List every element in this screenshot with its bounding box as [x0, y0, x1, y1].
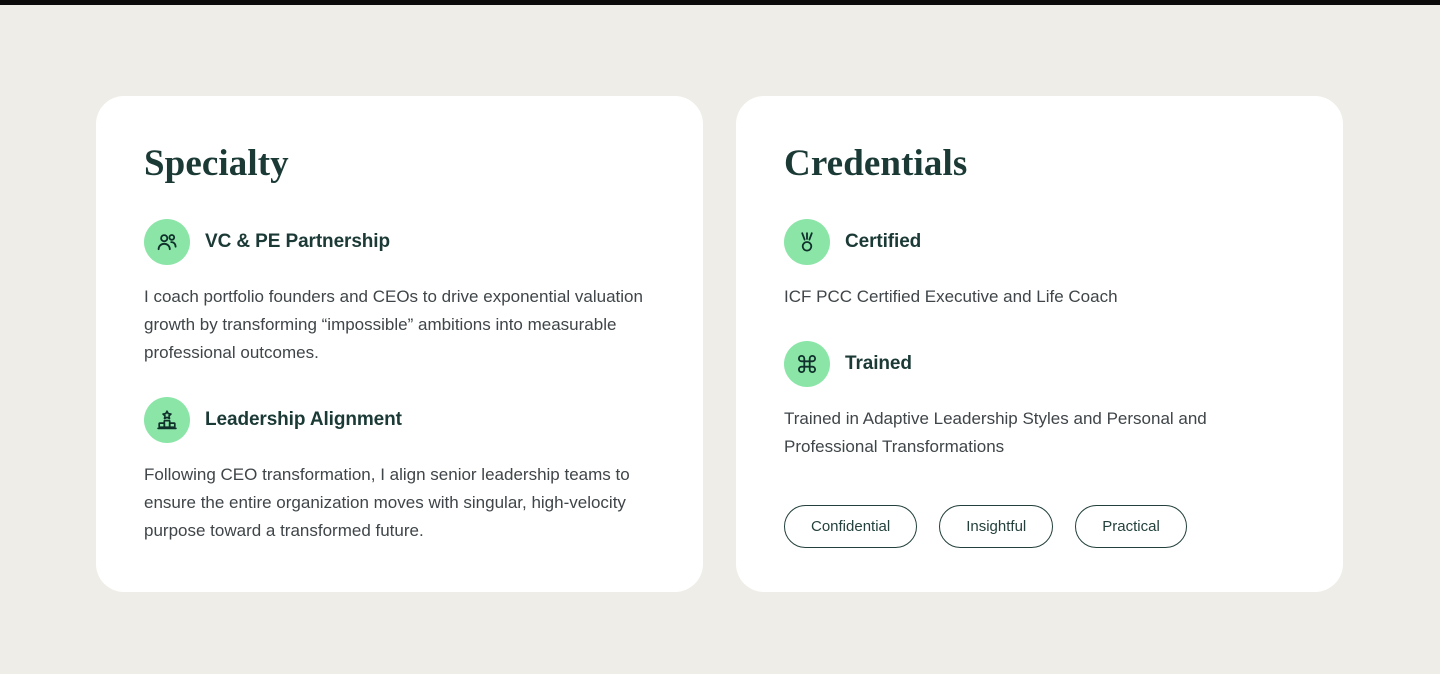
entry-body: ICF PCC Certified Executive and Life Coa…: [784, 283, 1295, 311]
entry-title: Leadership Alignment: [205, 409, 402, 431]
command-knot-icon: [784, 341, 830, 387]
cards-container: Specialty VC & PE Partnership I coach po…: [96, 96, 1344, 592]
entry-body: Following CEO transformation, I align se…: [144, 461, 655, 545]
medal-icon: [784, 219, 830, 265]
top-accent-strip: [0, 0, 1440, 5]
credentials-card-title: Credentials: [784, 144, 1295, 185]
specialty-entry-vc-pe-partnership: VC & PE Partnership I coach portfolio fo…: [144, 219, 655, 367]
entry-title: Trained: [845, 353, 912, 375]
people-icon: [144, 219, 190, 265]
tag-insightful[interactable]: Insightful: [939, 505, 1053, 548]
entry-body: Trained in Adaptive Leadership Styles an…: [784, 405, 1295, 461]
specialty-entry-leadership-alignment: Leadership Alignment Following CEO trans…: [144, 397, 655, 545]
credentials-entry-trained: Trained Trained in Adaptive Leadership S…: [784, 341, 1295, 461]
credentials-entry-certified: Certified ICF PCC Certified Executive an…: [784, 219, 1295, 311]
entry-header: Certified: [784, 219, 1295, 265]
entry-body: I coach portfolio founders and CEOs to d…: [144, 283, 655, 367]
specialty-card-title: Specialty: [144, 144, 655, 185]
entry-title: VC & PE Partnership: [205, 231, 390, 253]
entry-header: VC & PE Partnership: [144, 219, 655, 265]
tag-confidential[interactable]: Confidential: [784, 505, 917, 548]
specialty-card: Specialty VC & PE Partnership I coach po…: [96, 96, 703, 592]
entry-title: Certified: [845, 231, 921, 253]
credentials-card: Credentials Certified ICF PCC Certified …: [736, 96, 1343, 592]
entry-header: Trained: [784, 341, 1295, 387]
entry-header: Leadership Alignment: [144, 397, 655, 443]
podium-star-icon: [144, 397, 190, 443]
tag-practical[interactable]: Practical: [1075, 505, 1187, 548]
credential-tags: Confidential Insightful Practical: [784, 505, 1295, 548]
